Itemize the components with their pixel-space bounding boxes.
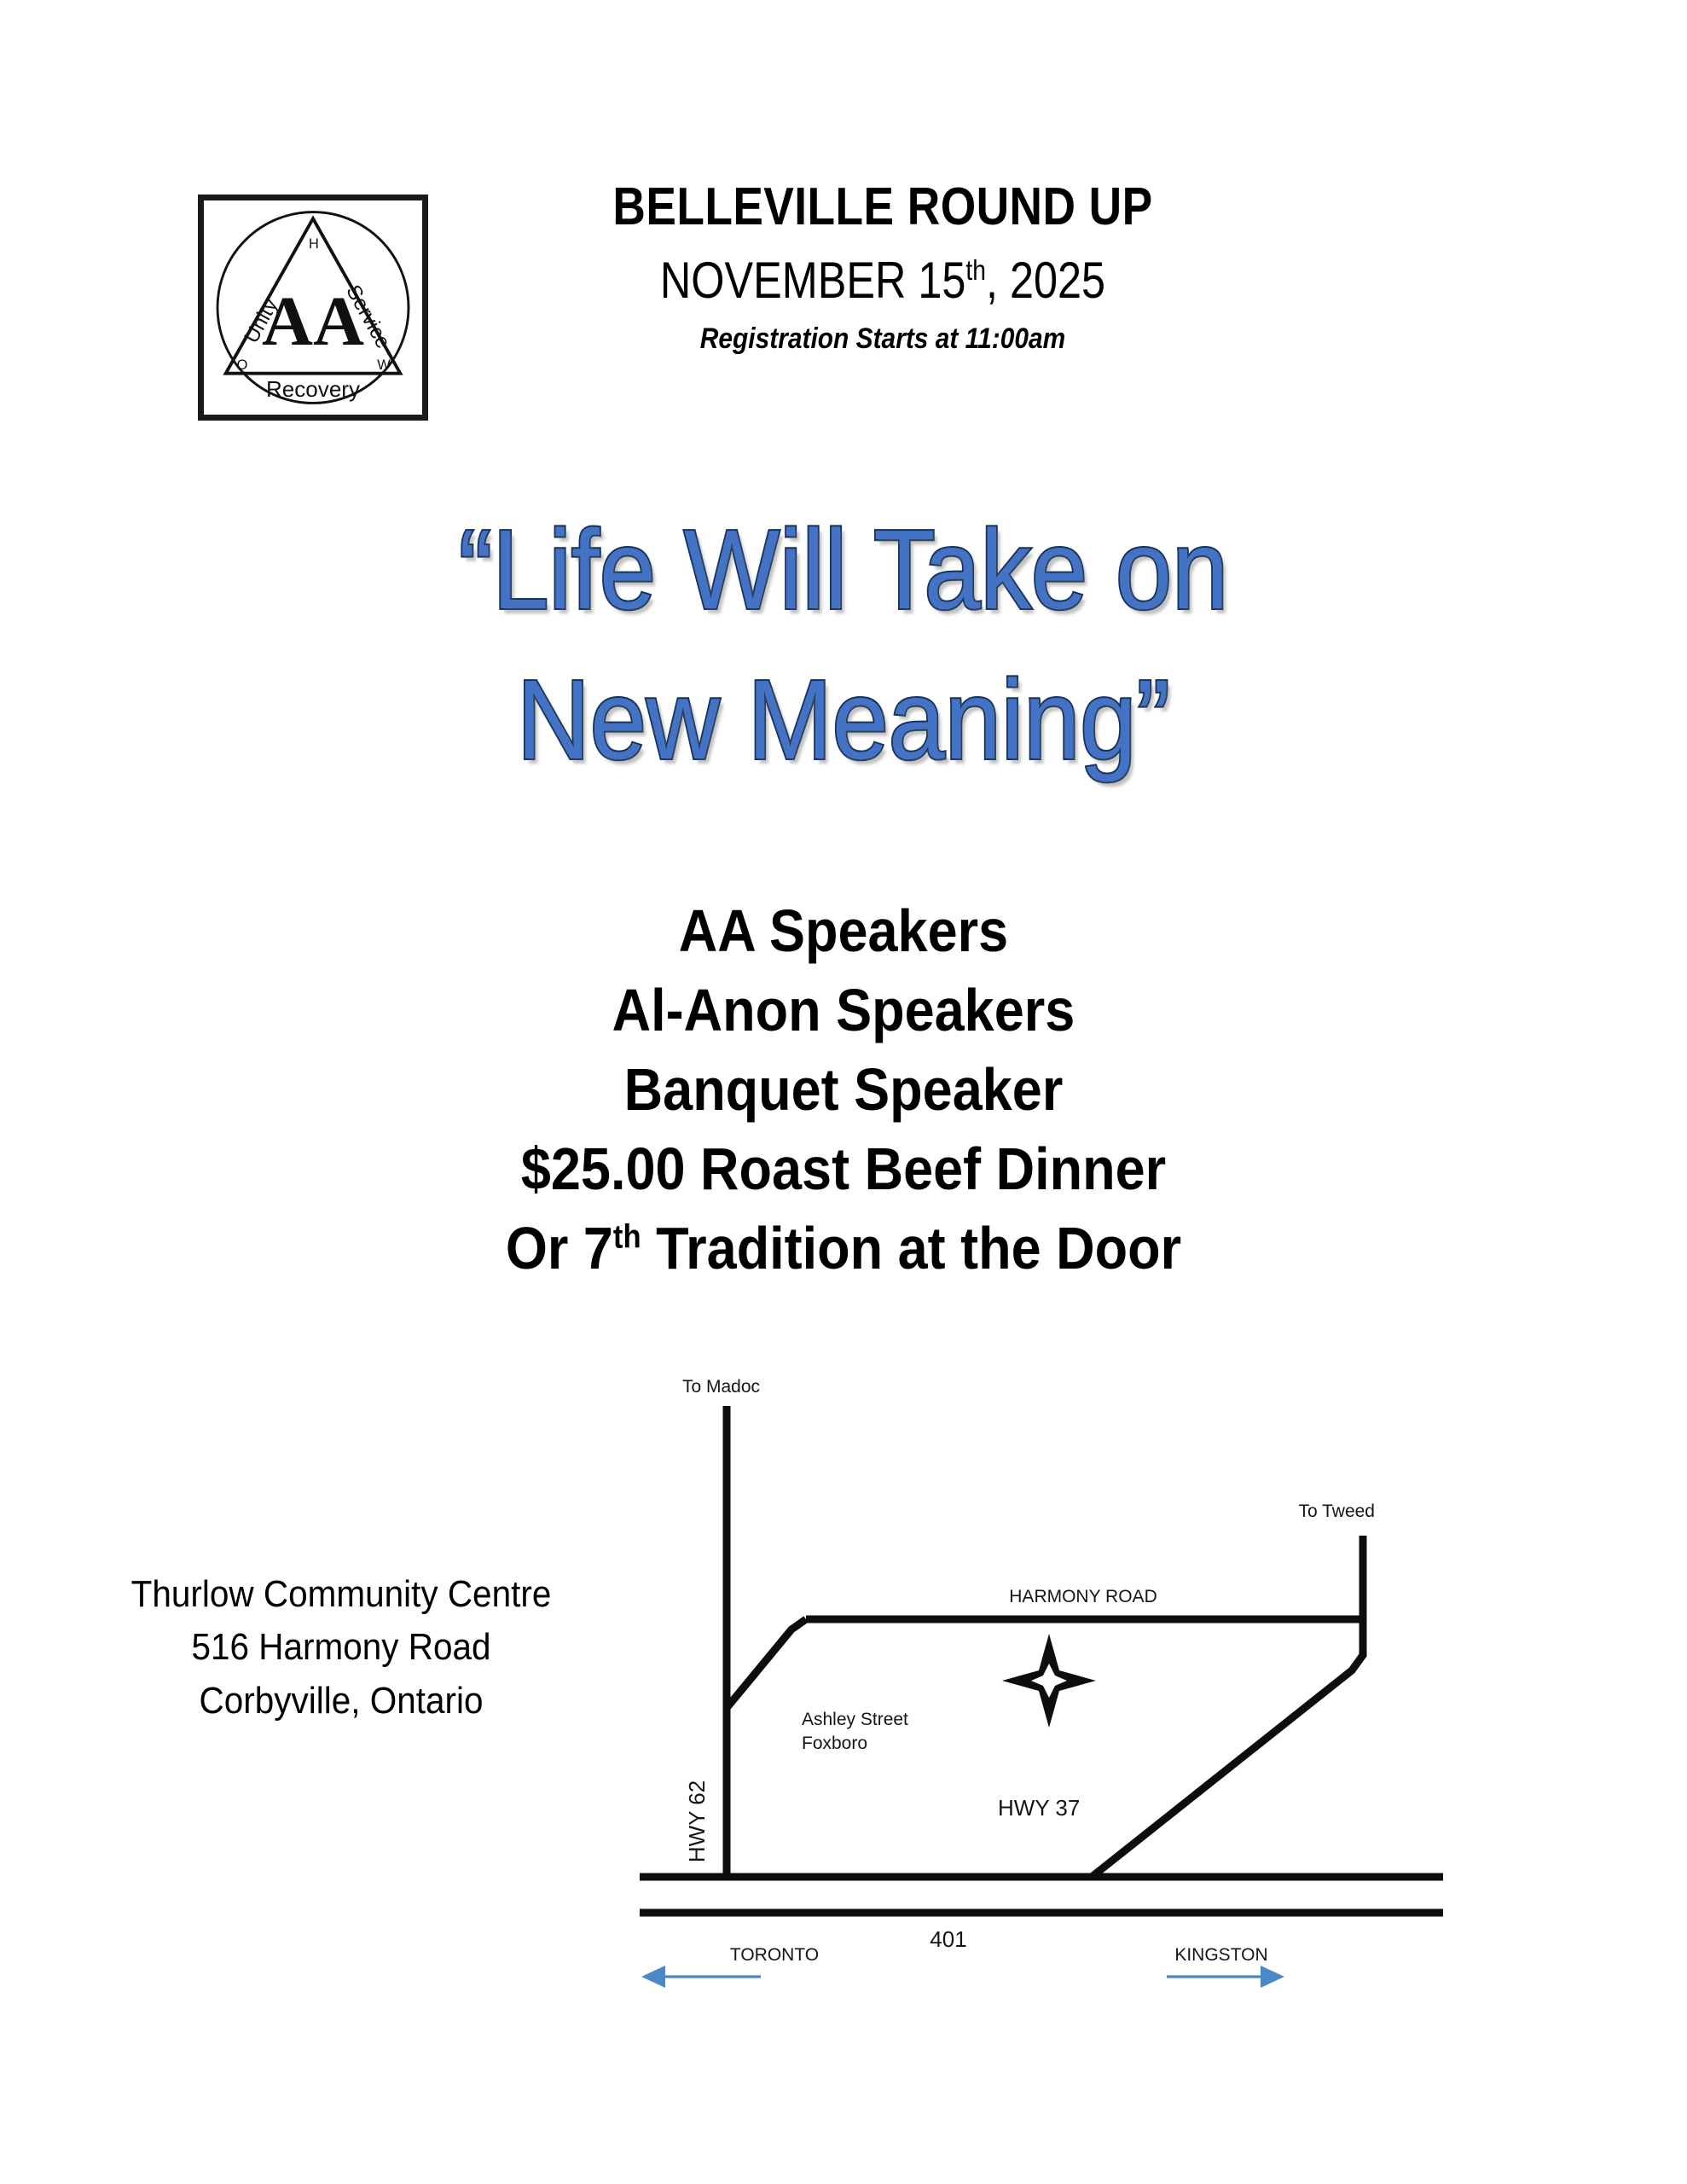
theme-title-line-2: New Meaning” xyxy=(84,645,1603,795)
aa-logo-vertex-w: W xyxy=(377,357,391,373)
toronto-arrow-icon xyxy=(641,1966,761,1988)
aa-logo: AA H O W Unity Service Recovery xyxy=(198,195,428,421)
road-ashley-street xyxy=(727,1619,806,1708)
aa-logo-vertex-o: O xyxy=(237,357,248,373)
aa-logo-recovery-text: Recovery xyxy=(266,376,360,402)
tradition-suffix: Tradition at the Door xyxy=(641,1215,1182,1281)
program-item-alanon-speakers: Al-Anon Speakers xyxy=(84,971,1603,1050)
location-map: To Madoc To Tweed HARMONY ROAD Ashley St… xyxy=(631,1356,1450,1988)
kingston-arrow-icon xyxy=(1167,1966,1284,1988)
map-label-toronto: TORONTO xyxy=(730,1945,819,1965)
map-label-kingston: KINGSTON xyxy=(1174,1945,1267,1965)
registration-note: Registration Starts at 11:00am xyxy=(526,322,1239,356)
map-label-harmony-road: HARMONY ROAD xyxy=(1009,1587,1157,1606)
program-item-dinner-price: $25.00 Roast Beef Dinner xyxy=(84,1130,1603,1209)
event-title: BELLEVILLE ROUND UP xyxy=(535,179,1232,235)
header-text-block: BELLEVILLE ROUND UP NOVEMBER 15th, 2025 … xyxy=(478,179,1288,356)
tradition-prefix: Or 7 xyxy=(506,1215,613,1281)
theme-title-line-1: “Life Will Take on xyxy=(84,495,1603,645)
map-label-hwy-37: HWY 37 xyxy=(998,1795,1080,1821)
aa-logo-graphic: AA H O W Unity Service Recovery xyxy=(204,200,422,415)
map-label-to-madoc: To Madoc xyxy=(682,1377,760,1397)
venue-street: 516 Harmony Road xyxy=(106,1621,577,1674)
aa-logo-vertex-h: H xyxy=(309,236,319,252)
event-date-main: NOVEMBER 15 xyxy=(660,252,966,309)
map-label-ashley-street: Ashley Street xyxy=(802,1710,908,1729)
venue-city: Corbyville, Ontario xyxy=(106,1675,577,1728)
venue-name: Thurlow Community Centre xyxy=(106,1568,577,1621)
map-label-hwy-62: HWY 62 xyxy=(684,1780,710,1862)
program-item-aa-speakers: AA Speakers xyxy=(84,892,1603,971)
program-item-banquet-speaker: Banquet Speaker xyxy=(84,1050,1603,1130)
map-label-to-tweed: To Tweed xyxy=(1298,1501,1375,1521)
theme-title-block: “Life Will Take on New Meaning” xyxy=(0,495,1687,794)
location-map-svg: To Madoc To Tweed HARMONY ROAD Ashley St… xyxy=(631,1356,1450,1988)
program-item-tradition: Or 7th Tradition at the Door xyxy=(84,1209,1603,1288)
event-date-ordinal: th xyxy=(965,255,986,287)
event-date: NOVEMBER 15th, 2025 xyxy=(542,248,1223,312)
venue-star-marker-center xyxy=(1031,1664,1067,1698)
tradition-ordinal: th xyxy=(613,1219,641,1256)
map-label-401: 401 xyxy=(930,1926,966,1952)
aa-logo-border: AA H O W Unity Service Recovery xyxy=(198,195,428,421)
map-label-foxboro: Foxboro xyxy=(802,1734,867,1753)
program-list: AA Speakers Al-Anon Speakers Banquet Spe… xyxy=(0,892,1687,1288)
venue-address-block: Thurlow Community Centre 516 Harmony Roa… xyxy=(85,1568,597,1728)
event-date-year: , 2025 xyxy=(986,252,1105,309)
